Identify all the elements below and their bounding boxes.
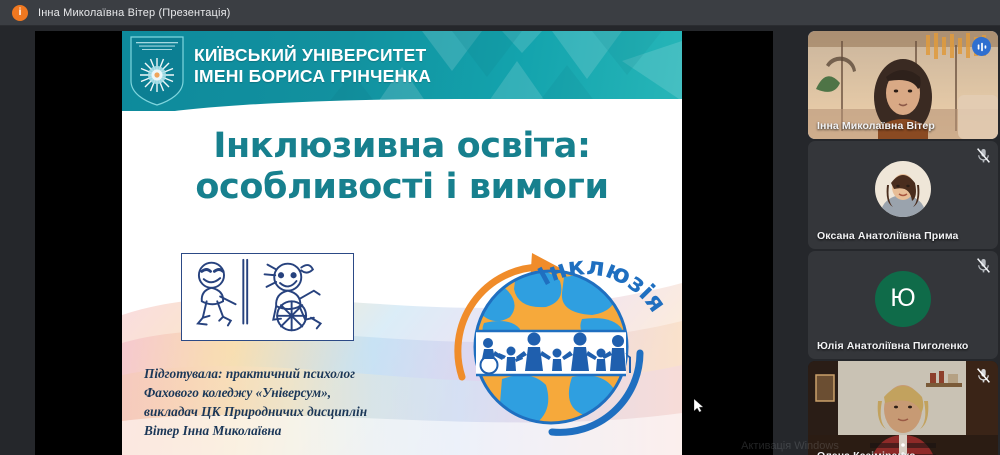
participant-rail: Інна Миколаївна Вітер	[808, 31, 998, 455]
mic-muted-icon	[977, 368, 990, 383]
credit-line-4: Вітер Інна Миколаївна	[144, 421, 367, 440]
credit-line-3: викладач ЦК Природничих дисциплін	[144, 402, 367, 421]
inclusion-globe-graphic: Інклюзія	[432, 227, 670, 442]
children-line-drawing-icon	[182, 254, 352, 339]
credit-line-2: Фахового коледжу «Універсум»,	[144, 383, 367, 402]
audio-bars-glyph	[976, 41, 988, 53]
participant-tile-inna-viter[interactable]: Інна Миколаївна Вітер	[808, 31, 998, 139]
participant-name: Олена Казіміренко	[817, 450, 916, 455]
audio-level-icon	[972, 37, 991, 56]
video-feed-olena-kazimirenko	[808, 361, 998, 455]
banner-title-line1: КИЇВСЬКИЙ УНІВЕРСИТЕТ	[194, 45, 431, 66]
presentation-slide: КИЇВСЬКИЙ УНІВЕРСИТЕТ ІМЕНІ БОРИСА ГРІНЧ…	[122, 31, 682, 455]
shared-screen-stage[interactable]: КИЇВСЬКИЙ УНІВЕРСИТЕТ ІМЕНІ БОРИСА ГРІНЧ…	[35, 31, 773, 455]
window-title: Інна Миколаївна Вітер (Презентація)	[38, 7, 231, 19]
university-shield-logo-icon	[128, 35, 186, 107]
mic-muted-icon	[977, 148, 990, 163]
participant-tile-oksana-pryma[interactable]: Оксана Анатоліївна Прима	[808, 141, 998, 249]
banner-title: КИЇВСЬКИЙ УНІВЕРСИТЕТ ІМЕНІ БОРИСА ГРІНЧ…	[194, 45, 431, 88]
participant-name: Оксана Анатоліївна Прима	[817, 230, 959, 242]
mic-muted-icon	[977, 258, 990, 273]
credit-line-1: Підготувала: практичний психолог	[144, 364, 367, 383]
participant-tile-yuliia-pyholenko[interactable]: Ю Юлія Анатоліївна Пиголенко	[808, 251, 998, 359]
avatar	[875, 161, 931, 217]
avatar-photo-oksana	[875, 161, 931, 217]
participant-tile-olena-kazimirenko[interactable]: Олена Казіміренко	[808, 361, 998, 455]
window-titlebar: і Інна Миколаївна Вітер (Презентація)	[0, 0, 1000, 26]
slide-credits: Підготувала: практичний психолог Фаховог…	[144, 364, 367, 441]
banner-title-line2: ІМЕНІ БОРИСА ГРІНЧЕНКА	[194, 66, 431, 87]
meeting-window: і Інна Миколаївна Вітер (Презентація)	[0, 0, 1000, 455]
mouse-pointer-icon	[694, 399, 703, 412]
children-illustration	[181, 253, 354, 341]
participant-name: Інна Миколаївна Вітер	[817, 120, 935, 132]
slide-title-line1: Інклюзивна освіта:	[213, 126, 590, 166]
slide-title: Інклюзивна освіта: особливості і вимоги	[122, 126, 682, 209]
avatar-initial: Ю	[875, 271, 931, 327]
slide-title-line2: особливості і вимоги	[122, 167, 682, 208]
inclusion-globe-people-icon: Інклюзія	[432, 227, 670, 442]
participant-name: Юлія Анатоліївна Пиголенко	[817, 340, 968, 352]
app-badge-icon: і	[12, 5, 28, 21]
